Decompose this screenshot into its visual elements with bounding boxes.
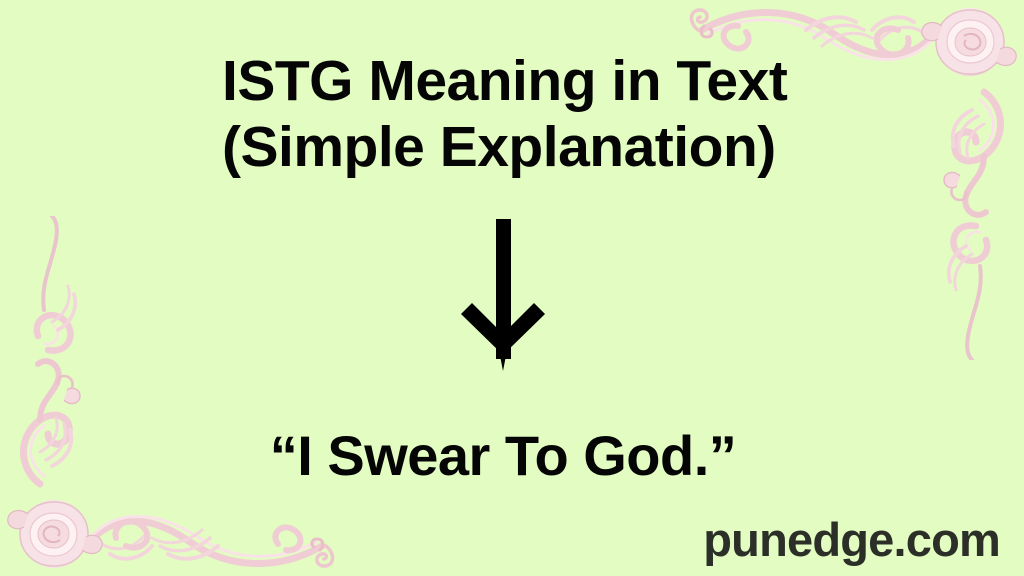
title-line-1: ISTG Meaning in Text xyxy=(222,48,822,114)
floral-scroll-bottom-left-ornament xyxy=(0,216,340,576)
title-line-2: (Simple Explanation) xyxy=(222,114,822,180)
watermark-punedge: punedge.com xyxy=(703,514,1000,566)
rose-bottom-left xyxy=(8,500,103,568)
slide-canvas: ISTG Meaning in Text (Simple Explanation… xyxy=(0,0,1024,576)
rose-top-right xyxy=(922,8,1017,76)
page-title: ISTG Meaning in Text (Simple Explanation… xyxy=(222,48,822,180)
arrow-down-icon xyxy=(455,215,551,377)
quote-text: “I Swear To God.” xyxy=(0,424,1006,488)
vine-bud-right xyxy=(944,173,966,200)
vine-bud-left xyxy=(691,10,712,37)
